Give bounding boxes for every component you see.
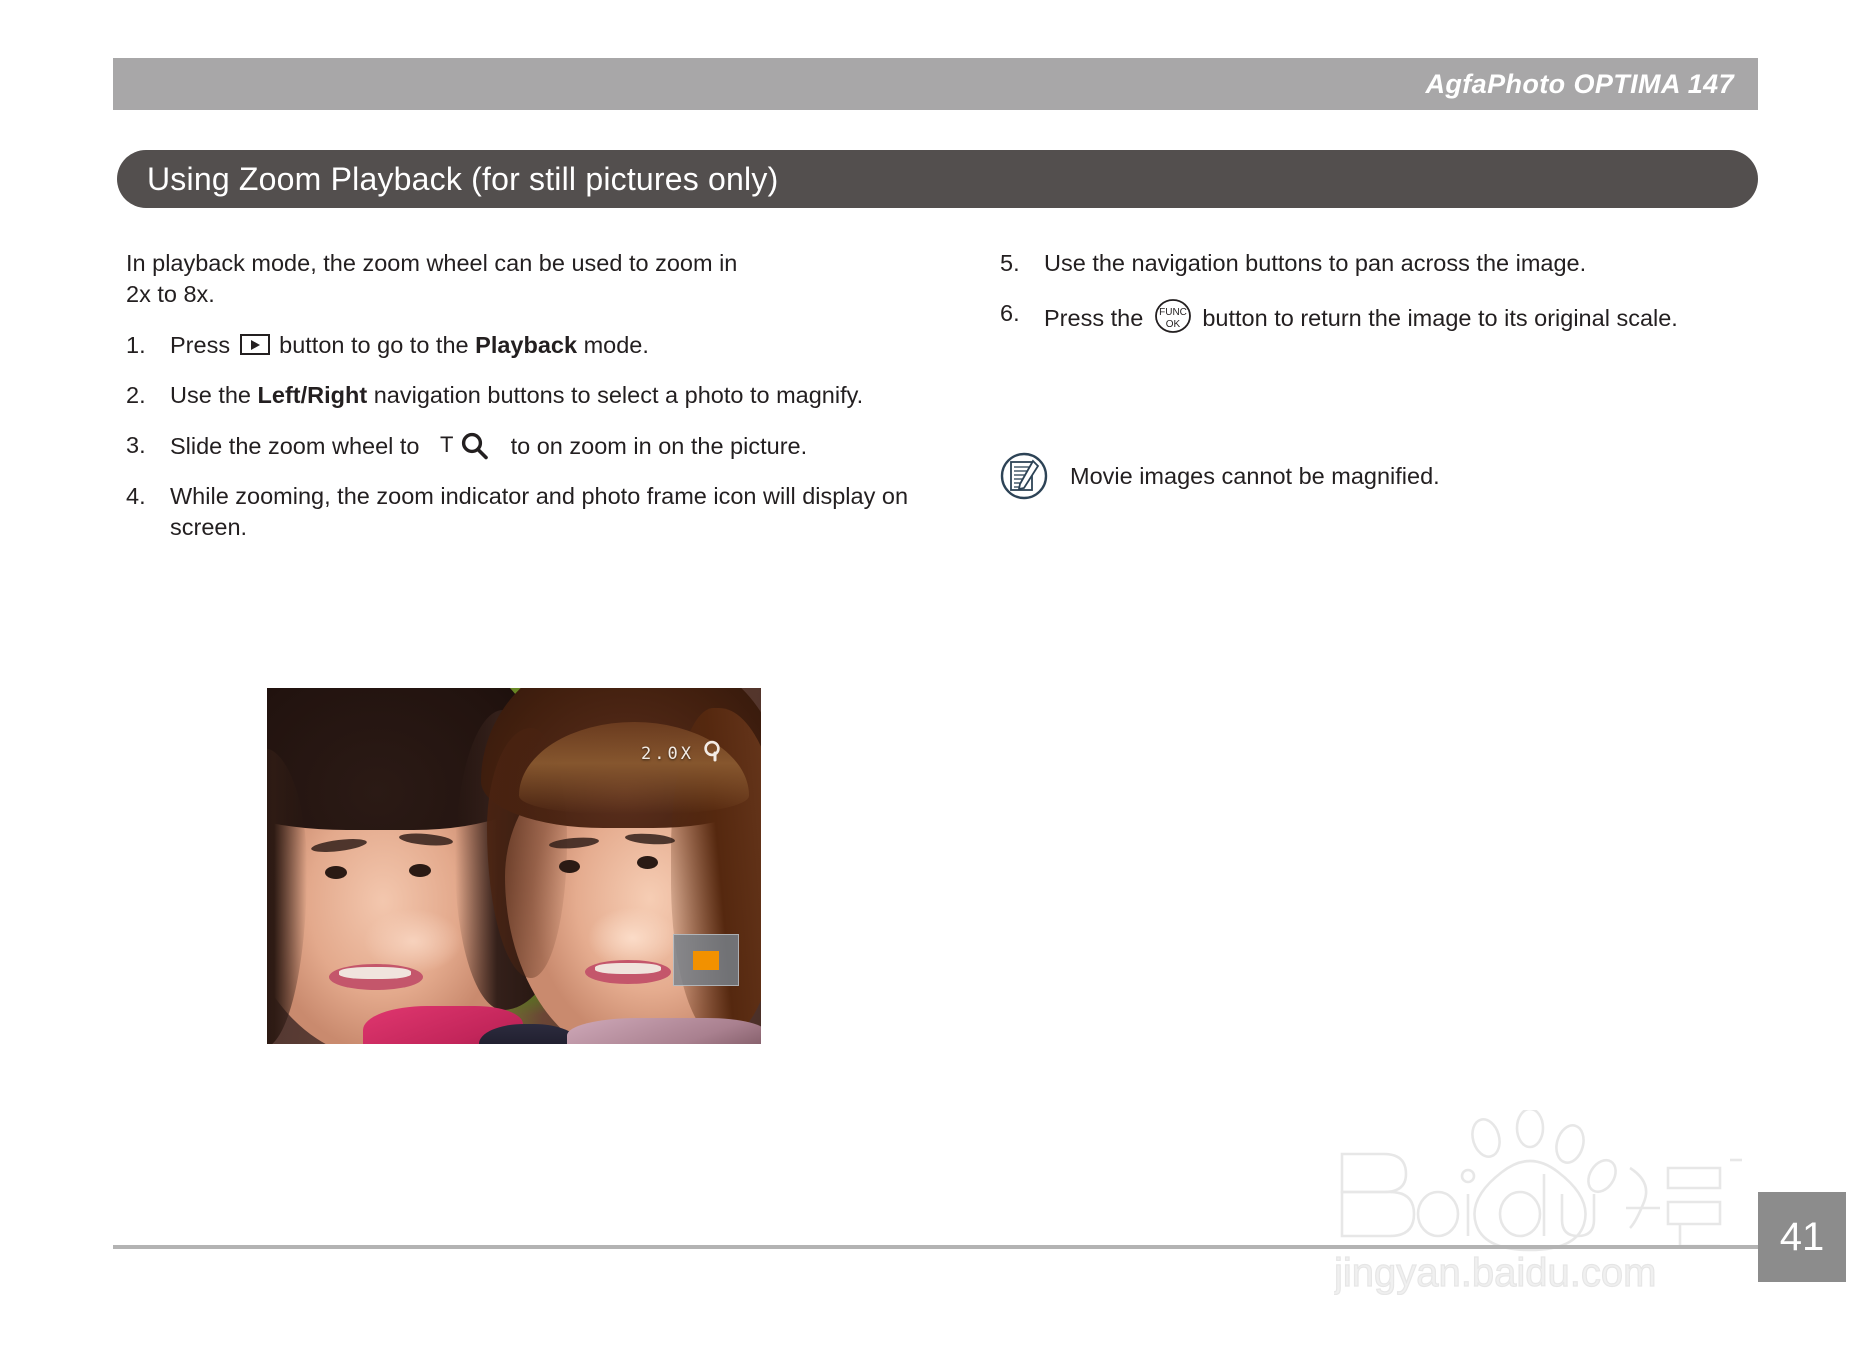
photo-frame-indicator-accent bbox=[693, 951, 719, 970]
step-2-text-before: Use the bbox=[170, 382, 251, 408]
photo-teeth-left bbox=[339, 967, 411, 979]
left-text-column: In playback mode, the zoom wheel can be … bbox=[126, 248, 916, 562]
func-ok-button-icon: FUNC OK bbox=[1154, 298, 1192, 334]
step-4-text: While zooming, the zoom indicator and ph… bbox=[170, 483, 908, 540]
step-3: 3. Slide the zoom wheel to T to on zoom … bbox=[126, 430, 916, 462]
photo-eye-left-1 bbox=[325, 866, 347, 879]
intro-line-2: 2x to 8x. bbox=[126, 279, 916, 310]
svg-text:T: T bbox=[440, 432, 453, 457]
steps-list-right: 5. Use the navigation buttons to pan acr… bbox=[1000, 248, 1790, 334]
right-text-column: 5. Use the navigation buttons to pan acr… bbox=[1000, 248, 1790, 353]
photo-eye-right-1 bbox=[559, 860, 580, 873]
osd-zoom-level: 2.0X bbox=[641, 744, 694, 764]
baidu-watermark: jingyan.baidu.com bbox=[1334, 1110, 1754, 1295]
step-3-text-after: to on zoom in on the picture. bbox=[511, 433, 808, 459]
step-2: 2. Use the Left/Right navigation buttons… bbox=[126, 380, 916, 411]
step-2-number: 2. bbox=[126, 380, 164, 411]
step-2-bold: Left/Right bbox=[258, 382, 368, 408]
photo-shirt-right bbox=[567, 1018, 761, 1044]
step-6: 6. Press the FUNC OK button to return th… bbox=[1000, 298, 1790, 334]
page-number: 41 bbox=[1780, 1215, 1825, 1260]
svg-text:FUNC: FUNC bbox=[1159, 307, 1187, 318]
step-6-number: 6. bbox=[1000, 298, 1038, 329]
svg-text:OK: OK bbox=[1166, 319, 1181, 330]
step-1-text-before: Press bbox=[170, 332, 230, 358]
step-1-bold: Playback bbox=[475, 332, 577, 358]
magnifier-icon bbox=[703, 740, 723, 767]
photo-teeth-right bbox=[595, 963, 661, 974]
page-header-bar: AgfaPhoto OPTIMA 147 bbox=[113, 58, 1758, 110]
photo-eye-right-2 bbox=[637, 856, 658, 869]
note-pencil-icon bbox=[1000, 452, 1048, 500]
note-text: Movie images cannot be magnified. bbox=[1070, 463, 1440, 490]
product-title: AgfaPhoto OPTIMA 147 bbox=[1425, 69, 1758, 100]
section-title-bar: Using Zoom Playback (for still pictures … bbox=[117, 150, 1758, 208]
intro-paragraph: In playback mode, the zoom wheel can be … bbox=[126, 248, 916, 310]
step-3-text-before: Slide the zoom wheel to bbox=[170, 433, 420, 459]
playback-button-icon bbox=[240, 334, 270, 355]
steps-list-left: 1. Press button to go to the Playback mo… bbox=[126, 330, 916, 543]
step-5-text: Use the navigation buttons to pan across… bbox=[1044, 250, 1586, 276]
intro-line-1: In playback mode, the zoom wheel can be … bbox=[126, 248, 916, 279]
step-6-text-after: button to return the image to its origin… bbox=[1202, 305, 1678, 331]
telephoto-magnifier-icon: T bbox=[440, 430, 494, 460]
step-4-number: 4. bbox=[126, 481, 164, 512]
step-4: 4. While zooming, the zoom indicator and… bbox=[126, 481, 916, 543]
sample-photo: 2.0X bbox=[267, 688, 761, 1044]
photo-eye-left-2 bbox=[409, 864, 431, 877]
step-1: 1. Press button to go to the Playback mo… bbox=[126, 330, 916, 361]
step-1-number: 1. bbox=[126, 330, 164, 361]
note-block: Movie images cannot be magnified. bbox=[1000, 452, 1440, 500]
manual-page: AgfaPhoto OPTIMA 147 Using Zoom Playback… bbox=[0, 0, 1871, 1361]
step-5-number: 5. bbox=[1000, 248, 1038, 279]
svg-text:jingyan.baidu.com: jingyan.baidu.com bbox=[1334, 1251, 1656, 1295]
step-1-text-after: button to go to the bbox=[279, 332, 468, 358]
step-1-text-tail: mode. bbox=[584, 332, 649, 358]
page-number-box: 41 bbox=[1758, 1192, 1846, 1282]
step-3-number: 3. bbox=[126, 430, 164, 461]
photo-frame-indicator-icon bbox=[673, 934, 739, 986]
step-5: 5. Use the navigation buttons to pan acr… bbox=[1000, 248, 1790, 279]
step-2-text-after: navigation buttons to select a photo to … bbox=[374, 382, 863, 408]
osd-zoom-indicator: 2.0X bbox=[641, 740, 723, 767]
footer-rule bbox=[113, 1245, 1758, 1249]
step-6-text-before: Press the bbox=[1044, 305, 1143, 331]
section-title: Using Zoom Playback (for still pictures … bbox=[117, 161, 778, 198]
